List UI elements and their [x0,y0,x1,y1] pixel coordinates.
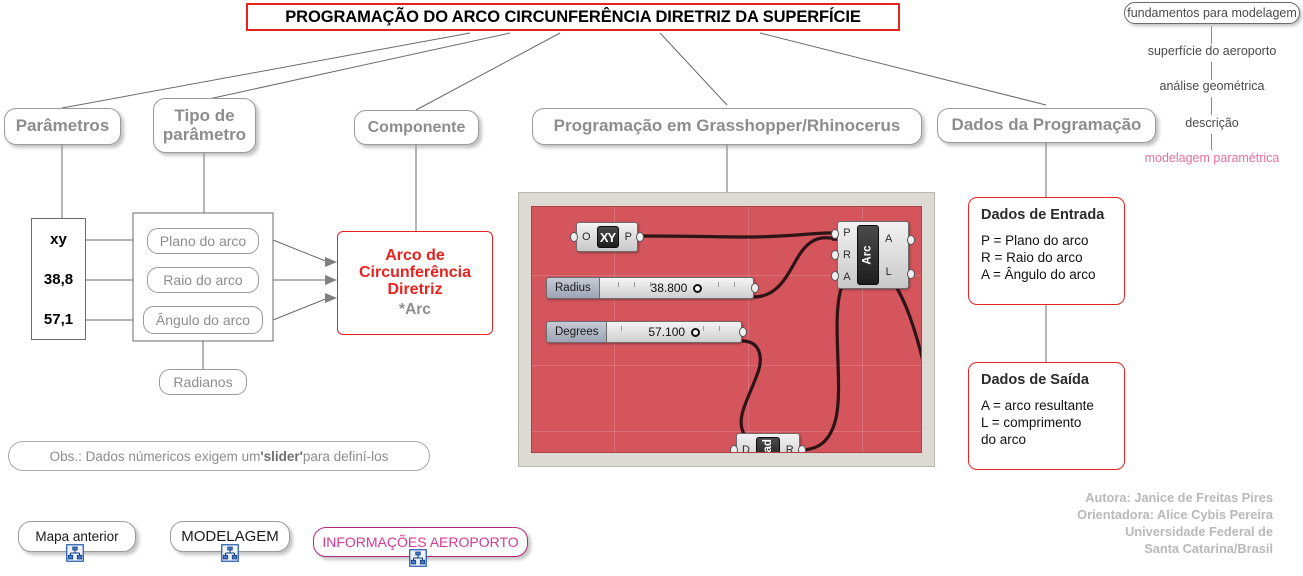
gh-port-out-r[interactable]: R [781,434,799,453]
gh-node-core-arc-label: Arc [862,245,874,264]
parameter-type-plano-label: Plano do arco [160,233,246,249]
gh-arc-outputs: A L [880,222,897,288]
gh-slider-radius-label: Radius [547,278,600,298]
tick [650,282,651,287]
footer-button-modelagem-label: MODELAGEM [181,528,279,545]
gh-node-core-xy: XY [597,226,619,248]
gh-arc-inputs: P R A [838,222,856,288]
gh-slider-radius-value: 38.800 [651,281,688,295]
section-header-tipo-parametro[interactable]: Tipo de parâmetro [153,98,256,153]
credits-university-2: Santa Catarina/Brasil [1003,541,1273,558]
gh-port-in-o[interactable]: O [577,223,596,251]
breadcrumb-connector [1211,26,1212,44]
gh-plug-in[interactable] [831,229,839,239]
sitemap-icon[interactable] [409,549,427,567]
footer-button-informacoes-aeroporto-label: INFORMAÇÕES AEROPORTO [322,534,518,550]
gh-slider-radius-knob[interactable] [693,284,702,293]
section-header-parametros[interactable]: Parâmetros [4,108,121,145]
gh-node-core-rad-label: Rad [762,439,774,453]
gh-slider-radius[interactable]: Radius 38.800 [546,277,754,299]
sitemap-icon[interactable] [66,544,84,562]
tick [734,282,735,287]
footer-button-mapa-anterior-label: Mapa anterior [35,529,118,544]
section-header-dados-programacao-label: Dados da Programação [952,116,1142,134]
parameter-type-plano[interactable]: Plano do arco [147,228,259,254]
gh-plug-in[interactable] [831,271,839,281]
parameter-type-raio[interactable]: Raio do arco [147,267,259,293]
credits-author: Autora: Janice de Freitas Pires [1003,490,1273,507]
breadcrumb-connector [1211,97,1212,115]
dados-entrada-line: A = Ângulo do arco [981,266,1112,283]
parameter-type-raio-label: Raio do arco [163,272,242,288]
dados-saida-line: A = arco resultante [981,397,1112,414]
gh-plug-out[interactable] [636,232,644,242]
gh-plug-out[interactable] [907,269,915,279]
gh-slider-degrees-knob[interactable] [691,328,700,337]
section-header-componente-label: Componente [368,119,466,136]
breadcrumb-item-descricao[interactable]: descrição [1124,116,1300,130]
component-title-line-2: Circunferência [359,264,471,281]
gh-node-core-rad: Rad [756,437,780,453]
section-header-parametros-label: Parâmetros [16,117,110,135]
observation-suffix: para definí-los [303,449,389,464]
gh-plug-out[interactable] [739,327,747,337]
gh-slider-degrees-label: Degrees [547,322,607,342]
component-title-line-1: Arco de [385,247,445,264]
gh-port-out-a[interactable]: A [880,233,897,245]
breadcrumb-root[interactable]: fundamentos para modelagem [1124,2,1300,24]
parameter-type-radianos-label: Radianos [173,374,232,390]
breadcrumb-root-label: fundamentos para modelagem [1127,6,1297,20]
page-title-text: PROGRAMAÇÃO DO ARCO CIRCUNFERÊNCIA DIRET… [285,8,860,27]
dados-entrada-box: Dados de Entrada P = Plano do arco R = R… [968,197,1125,305]
tick [719,326,720,331]
gh-port-out-l[interactable]: L [880,266,897,278]
sitemap-icon[interactable] [221,544,239,562]
parameter-value-plane: xy [32,219,85,259]
tick [718,282,719,287]
observation-bold: 'slider' [260,449,302,464]
parameter-values-box: xy 38,8 57,1 [31,218,86,340]
breadcrumb-item-analise[interactable]: análise geométrica [1124,79,1300,93]
parameter-type-angulo[interactable]: Ângulo do arco [143,306,263,334]
diagram-canvas: PROGRAMAÇÃO DO ARCO CIRCUNFERÊNCIA DIRET… [0,0,1303,576]
dados-saida-title: Dados de Saída [981,372,1112,388]
gh-node-radians[interactable]: D Rad R [736,433,800,453]
credits-block: Autora: Janice de Freitas Pires Orientad… [1003,490,1273,558]
gh-node-xy-plane[interactable]: O XY P [576,222,638,252]
breadcrumb-item-superficie[interactable]: superfície do aeroporto [1124,44,1300,58]
gh-port-in-p[interactable]: P [838,227,856,239]
gh-node-arc[interactable]: P R A Arc A L [837,221,909,289]
section-header-tipo-parametro-label-2: parâmetro [163,126,246,144]
observation-prefix: Obs.: Dados númericos exigem um [50,449,261,464]
tick [621,326,622,331]
breadcrumb-connector [1211,62,1212,80]
page-title: PROGRAMAÇÃO DO ARCO CIRCUNFERÊNCIA DIRET… [246,3,900,31]
gh-node-core-arc: Arc [857,225,879,285]
dados-saida-line: L = comprimento [981,414,1112,431]
dados-entrada-title: Dados de Entrada [981,207,1112,223]
gh-plug-out[interactable] [907,235,915,245]
parameter-value-radius: 38,8 [32,259,85,299]
component-subtitle: *Arc [399,301,431,319]
observation-note: Obs.: Dados númericos exigem um 'slider'… [8,441,430,471]
section-header-programacao-label: Programação em Grasshopper/Rhinocerus [554,117,901,135]
credits-university-1: Universidade Federal de [1003,524,1273,541]
gh-node-core-xy-label: XY [600,230,615,245]
gh-plug-in[interactable] [570,232,578,242]
gh-plug-in[interactable] [730,445,738,453]
dados-entrada-line: R = Raio do arco [981,249,1112,266]
breadcrumb-item-active[interactable]: modelagem paramétrica [1124,151,1300,165]
grasshopper-canvas[interactable]: O XY P Radius 38.800 [518,192,935,467]
gh-plug-out[interactable] [751,283,759,293]
credits-advisor: Orientadora: Alice Cybis Pereira [1003,507,1273,524]
section-header-tipo-parametro-label-1: Tipo de [174,107,234,125]
component-box: Arco de Circunferência Diretriz *Arc [337,231,493,335]
section-header-componente[interactable]: Componente [354,110,479,145]
dados-entrada-line: P = Plano do arco [981,232,1112,249]
gh-port-in-d[interactable]: D [737,434,755,453]
section-header-programacao[interactable]: Programação em Grasshopper/Rhinocerus [532,108,922,145]
parameter-type-radianos[interactable]: Radianos [159,369,247,395]
gh-plug-in[interactable] [831,250,839,260]
gh-port-out-p[interactable]: P [620,223,637,251]
gh-slider-degrees-track[interactable]: 57.100 [607,322,741,342]
gh-slider-radius-track[interactable]: 38.800 [600,278,753,298]
gh-port-in-r[interactable]: R [838,249,856,261]
dados-saida-line: do arco [981,431,1112,448]
gh-slider-degrees-value: 57.100 [648,325,685,339]
tick [634,282,635,287]
gh-plug-out[interactable] [798,445,806,453]
gh-slider-degrees[interactable]: Degrees 57.100 [546,321,742,343]
parameter-value-angle: 57,1 [32,299,85,339]
parameter-type-angulo-label: Ângulo do arco [156,312,250,328]
component-title-line-3: Diretriz [387,281,442,298]
grasshopper-viewport[interactable]: O XY P Radius 38.800 [531,206,922,453]
tick [703,326,704,331]
dados-saida-box: Dados de Saída A = arco resultante L = c… [968,362,1125,470]
gh-port-in-a[interactable]: A [838,271,856,283]
breadcrumb-connector [1211,134,1212,150]
tick [618,282,619,287]
